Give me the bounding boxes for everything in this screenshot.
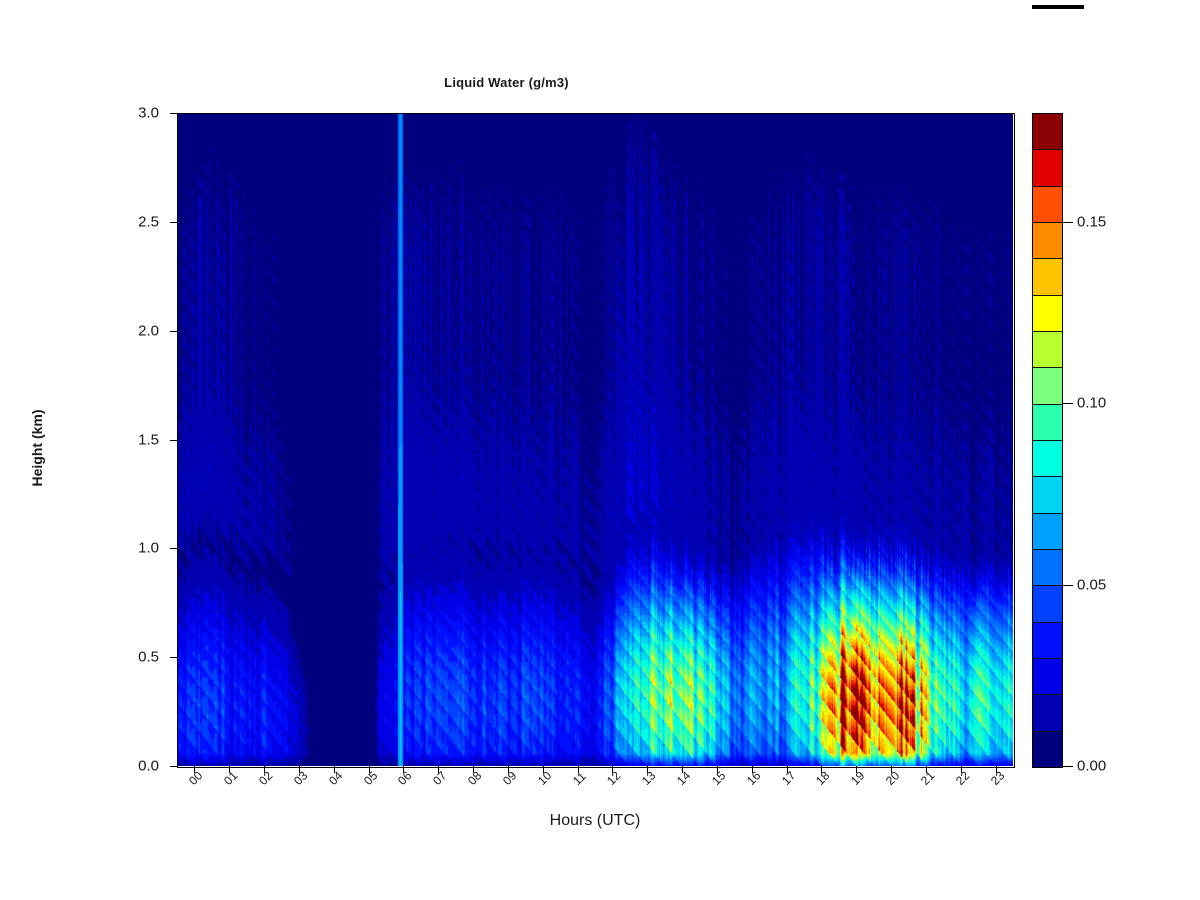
x-tick-label: 03 [291,769,310,788]
colorbar-band [1033,476,1062,512]
y-tick-mark [170,766,177,767]
y-tick-mark [170,548,177,549]
colorbar-band [1033,114,1062,149]
x-tick-label: 14 [674,769,693,788]
x-tick-label: 00 [186,769,205,788]
y-tick-mark [170,657,177,658]
colorbar-band [1033,149,1062,185]
x-tick-label: 23 [988,769,1007,788]
heatmap-plot-area [177,113,1013,766]
colorbar-band [1033,258,1062,294]
x-tick-label: 19 [848,769,867,788]
x-tick-label: 13 [639,769,658,788]
colorbar-tick-mark [1062,585,1073,586]
colorbar-band [1033,585,1062,621]
x-tick-label: 15 [709,769,728,788]
x-tick-label: 07 [430,769,449,788]
y-tick-label: 1.0 [99,540,159,557]
x-tick-label: 21 [918,769,937,788]
colorbar-band [1033,731,1062,767]
x-tick-label: 12 [604,769,623,788]
x-tick-label: 17 [779,769,798,788]
colorbar-tick-mark [1062,766,1073,767]
colorbar-band [1033,440,1062,476]
y-tick-label: 0.0 [99,758,159,775]
x-tick-label: 11 [570,769,589,788]
x-axis-label: Hours (UTC) [177,812,1013,830]
x-tick-label: 08 [465,769,484,788]
x-tick-label: 10 [535,769,554,788]
colorbar-band [1033,222,1062,258]
colorbar-band [1033,549,1062,585]
y-tick-label: 2.5 [99,213,159,230]
x-tick-label: 20 [883,769,902,788]
y-tick-mark [170,222,177,223]
y-tick-label: 2.0 [99,322,159,339]
colorbar-band [1033,186,1062,222]
y-tick-mark [170,331,177,332]
chart-title: Liquid Water (g/m3) [0,75,1013,90]
colorbar-band [1033,331,1062,367]
colorbar-band [1033,513,1062,549]
x-tick-label: 06 [395,769,414,788]
x-tick-label: 16 [744,769,763,788]
x-tick-label: 22 [953,769,972,788]
y-tick-label: 0.5 [99,649,159,666]
colorbar-band [1033,404,1062,440]
x-tick-label: 09 [500,769,519,788]
x-tick-label: 05 [361,769,380,788]
colorbar-band [1033,694,1062,730]
y-tick-mark [170,113,177,114]
x-tick-label: 04 [326,769,345,788]
colorbar-tick-mark [1062,222,1073,223]
colorbar-tick-label: 0.10 [1077,395,1106,412]
figure-canvas: Liquid Water (g/m3) Height (km) Hours (U… [0,0,1200,900]
colorbar-tick-mark [1062,403,1073,404]
colorbar-band [1033,367,1062,403]
colorbar-band [1033,622,1062,658]
colorbar-band [1033,295,1062,331]
y-axis-label: Height (km) [29,378,45,518]
x-tick-label: 01 [221,769,240,788]
colorbar-tick-label: 0.05 [1077,576,1106,593]
colorbar [1032,113,1063,768]
y-tick-label: 3.0 [99,105,159,122]
y-tick-label: 1.5 [99,431,159,448]
y-tick-mark [170,440,177,441]
colorbar-tick-label: 0.15 [1077,213,1106,230]
top-right-artifact [1032,5,1084,9]
x-tick-label: 02 [256,769,275,788]
colorbar-band [1033,658,1062,694]
heatmap-canvas [177,113,1013,766]
colorbar-tick-label: 0.00 [1077,758,1106,775]
x-tick-label: 18 [813,769,832,788]
